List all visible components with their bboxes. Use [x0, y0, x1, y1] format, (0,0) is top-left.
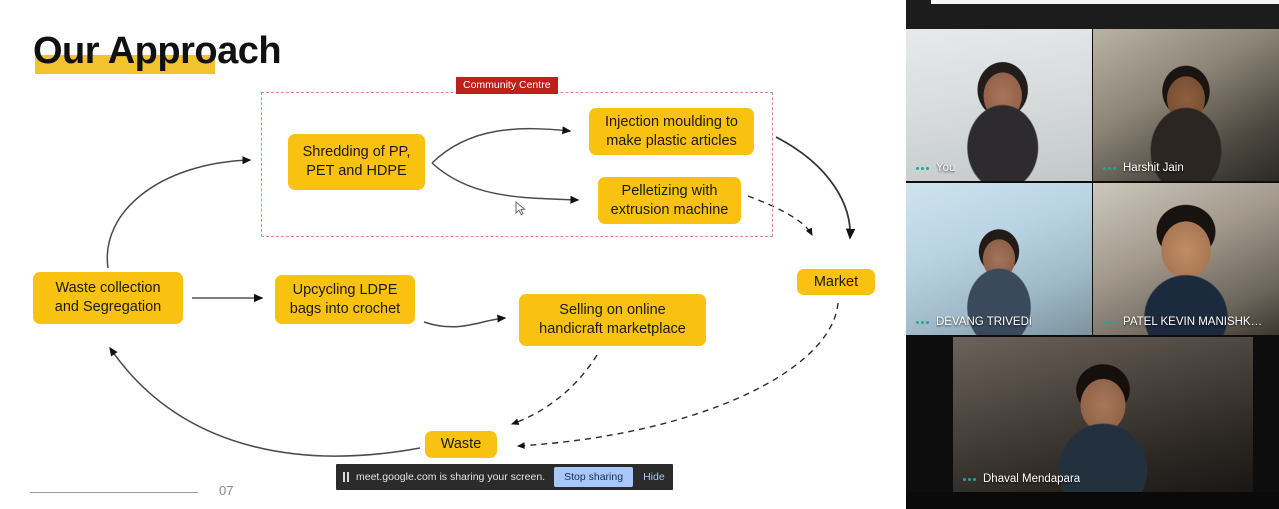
participant-name-bar: Dhaval Mendapara — [953, 467, 1090, 492]
participant-tile-devang-trivedi[interactable]: DEVANG TRIVEDI — [906, 183, 1092, 335]
node-collection-line1: Waste collection — [55, 279, 161, 298]
mic-active-dots-icon — [916, 321, 929, 324]
participant-name: PATEL KEVIN MANISHK… — [1123, 315, 1262, 329]
pause-icon[interactable] — [343, 472, 349, 482]
mic-active-dots-icon — [1103, 321, 1116, 324]
share-status-text: meet.google.com is sharing your screen. — [356, 471, 545, 483]
mouse-cursor-icon — [515, 201, 526, 216]
node-market-label: Market — [814, 273, 858, 292]
node-pelletizing: Pelletizing with extrusion machine — [598, 177, 741, 224]
page-title-text: Our Approach — [33, 28, 281, 74]
node-selling-line2: handicraft marketplace — [539, 320, 686, 339]
browser-chrome-strip — [906, 0, 1279, 29]
participant-name-bar: PATEL KEVIN MANISHK… — [1093, 310, 1272, 335]
participant-name-bar: Harshit Jain — [1093, 156, 1194, 181]
participant-name: Harshit Jain — [1123, 161, 1184, 175]
mic-active-dots-icon — [963, 478, 976, 481]
node-collection-line2: and Segregation — [55, 298, 161, 317]
node-shredding-line1: Shredding of PP, — [303, 143, 411, 162]
participant-name-bar: DEVANG TRIVEDI — [906, 310, 1042, 335]
hide-button[interactable]: Hide — [643, 471, 665, 483]
node-pelletizing-line1: Pelletizing with — [611, 182, 729, 201]
node-market: Market — [797, 269, 875, 295]
page-title: Our Approach — [33, 28, 281, 74]
participant-name: Dhaval Mendapara — [983, 472, 1080, 486]
node-injection-line1: Injection moulding to — [605, 113, 738, 132]
participant-tile-patel-kevin[interactable]: PATEL KEVIN MANISHK… — [1093, 183, 1279, 335]
node-upcycling-line2: bags into crochet — [290, 300, 400, 319]
node-selling-online: Selling on online handicraft marketplace — [519, 294, 706, 346]
node-waste-collection: Waste collection and Segregation — [33, 272, 183, 324]
participant-name-bar: You — [906, 156, 965, 181]
participant-name: You — [936, 161, 955, 175]
community-centre-label: Community Centre — [456, 77, 558, 94]
participant-tile-dhaval-mendapara[interactable]: Dhaval Mendapara — [953, 337, 1253, 492]
screen-share-notification-bar: meet.google.com is sharing your screen. … — [336, 464, 673, 490]
node-upcycling-line1: Upcycling LDPE — [290, 281, 400, 300]
node-upcycling-ldpe: Upcycling LDPE bags into crochet — [275, 275, 415, 324]
participant-tile-harshit-jain[interactable]: Harshit Jain — [1093, 29, 1279, 181]
stop-sharing-button[interactable]: Stop sharing — [554, 467, 633, 487]
node-pelletizing-line2: extrusion machine — [611, 201, 729, 220]
mic-active-dots-icon — [916, 167, 929, 170]
node-shredding-line2: PET and HDPE — [303, 162, 411, 181]
mic-active-dots-icon — [1103, 167, 1116, 170]
node-injection-moulding: Injection moulding to make plastic artic… — [589, 108, 754, 155]
node-shredding: Shredding of PP, PET and HDPE — [288, 134, 425, 190]
node-injection-line2: make plastic articles — [605, 132, 738, 151]
chrome-tab-strip — [931, 0, 1279, 4]
grid-bottom-filler — [906, 492, 1279, 509]
participant-tile-you[interactable]: You — [906, 29, 1092, 181]
shared-slide: Our Approach — [0, 0, 906, 509]
node-waste-label: Waste — [441, 435, 482, 454]
participant-grid: You Harshit Jain DEVANG TRIVEDI PATEL KE… — [906, 0, 1279, 509]
footer-divider — [30, 492, 198, 493]
page-number: 07 — [219, 483, 233, 498]
node-waste: Waste — [425, 431, 497, 458]
node-selling-line1: Selling on online — [539, 301, 686, 320]
participant-name: DEVANG TRIVEDI — [936, 315, 1032, 329]
meeting-screen-share-view: Our Approach — [0, 0, 1279, 509]
